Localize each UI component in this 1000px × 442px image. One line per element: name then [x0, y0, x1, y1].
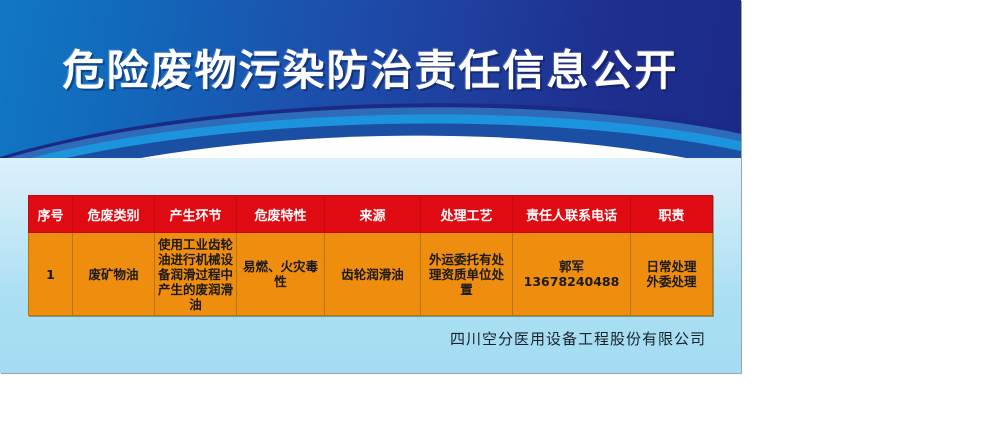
cell-treatment: 外运委托有处理资质单位处置 — [421, 233, 513, 316]
information-poster: 危险废物污染防治责任信息公开 序号 危废类别 产生环节 危废特性 来源 处理工艺… — [0, 0, 741, 373]
column-header-property: 危废特性 — [237, 196, 325, 233]
cell-source: 齿轮润滑油 — [325, 233, 421, 316]
cell-contact: 郭军 13678240488 — [513, 233, 631, 316]
cell-property: 易燃、火灾毒性 — [237, 233, 325, 316]
column-header-treatment: 处理工艺 — [421, 196, 513, 233]
poster-title: 危险废物污染防治责任信息公开 — [0, 50, 741, 92]
table-header-row: 序号 危废类别 产生环节 危废特性 来源 处理工艺 责任人联系电话 职责 — [29, 196, 713, 233]
table-row: 1 废矿物油 使用工业齿轮油进行机械设备润滑过程中产生的废润滑油 易燃、火灾毒性… — [29, 233, 713, 316]
column-header-duty: 职责 — [631, 196, 713, 233]
column-header-stage: 产生环节 — [155, 196, 237, 233]
poster-banner: 危险废物污染防治责任信息公开 — [0, 0, 741, 158]
column-header-index: 序号 — [29, 196, 73, 233]
column-header-source: 来源 — [325, 196, 421, 233]
company-name: 四川空分医用设备工程股份有限公司 — [28, 328, 712, 349]
cell-duty: 日常处理 外委处理 — [631, 233, 713, 316]
cell-index: 1 — [29, 233, 73, 316]
cell-stage: 使用工业齿轮油进行机械设备润滑过程中产生的废润滑油 — [155, 233, 237, 316]
column-header-category: 危废类别 — [73, 196, 155, 233]
hazardous-waste-table: 序号 危废类别 产生环节 危废特性 来源 处理工艺 责任人联系电话 职责 1 废… — [28, 195, 713, 316]
cell-category: 废矿物油 — [73, 233, 155, 316]
column-header-contact: 责任人联系电话 — [513, 196, 631, 233]
